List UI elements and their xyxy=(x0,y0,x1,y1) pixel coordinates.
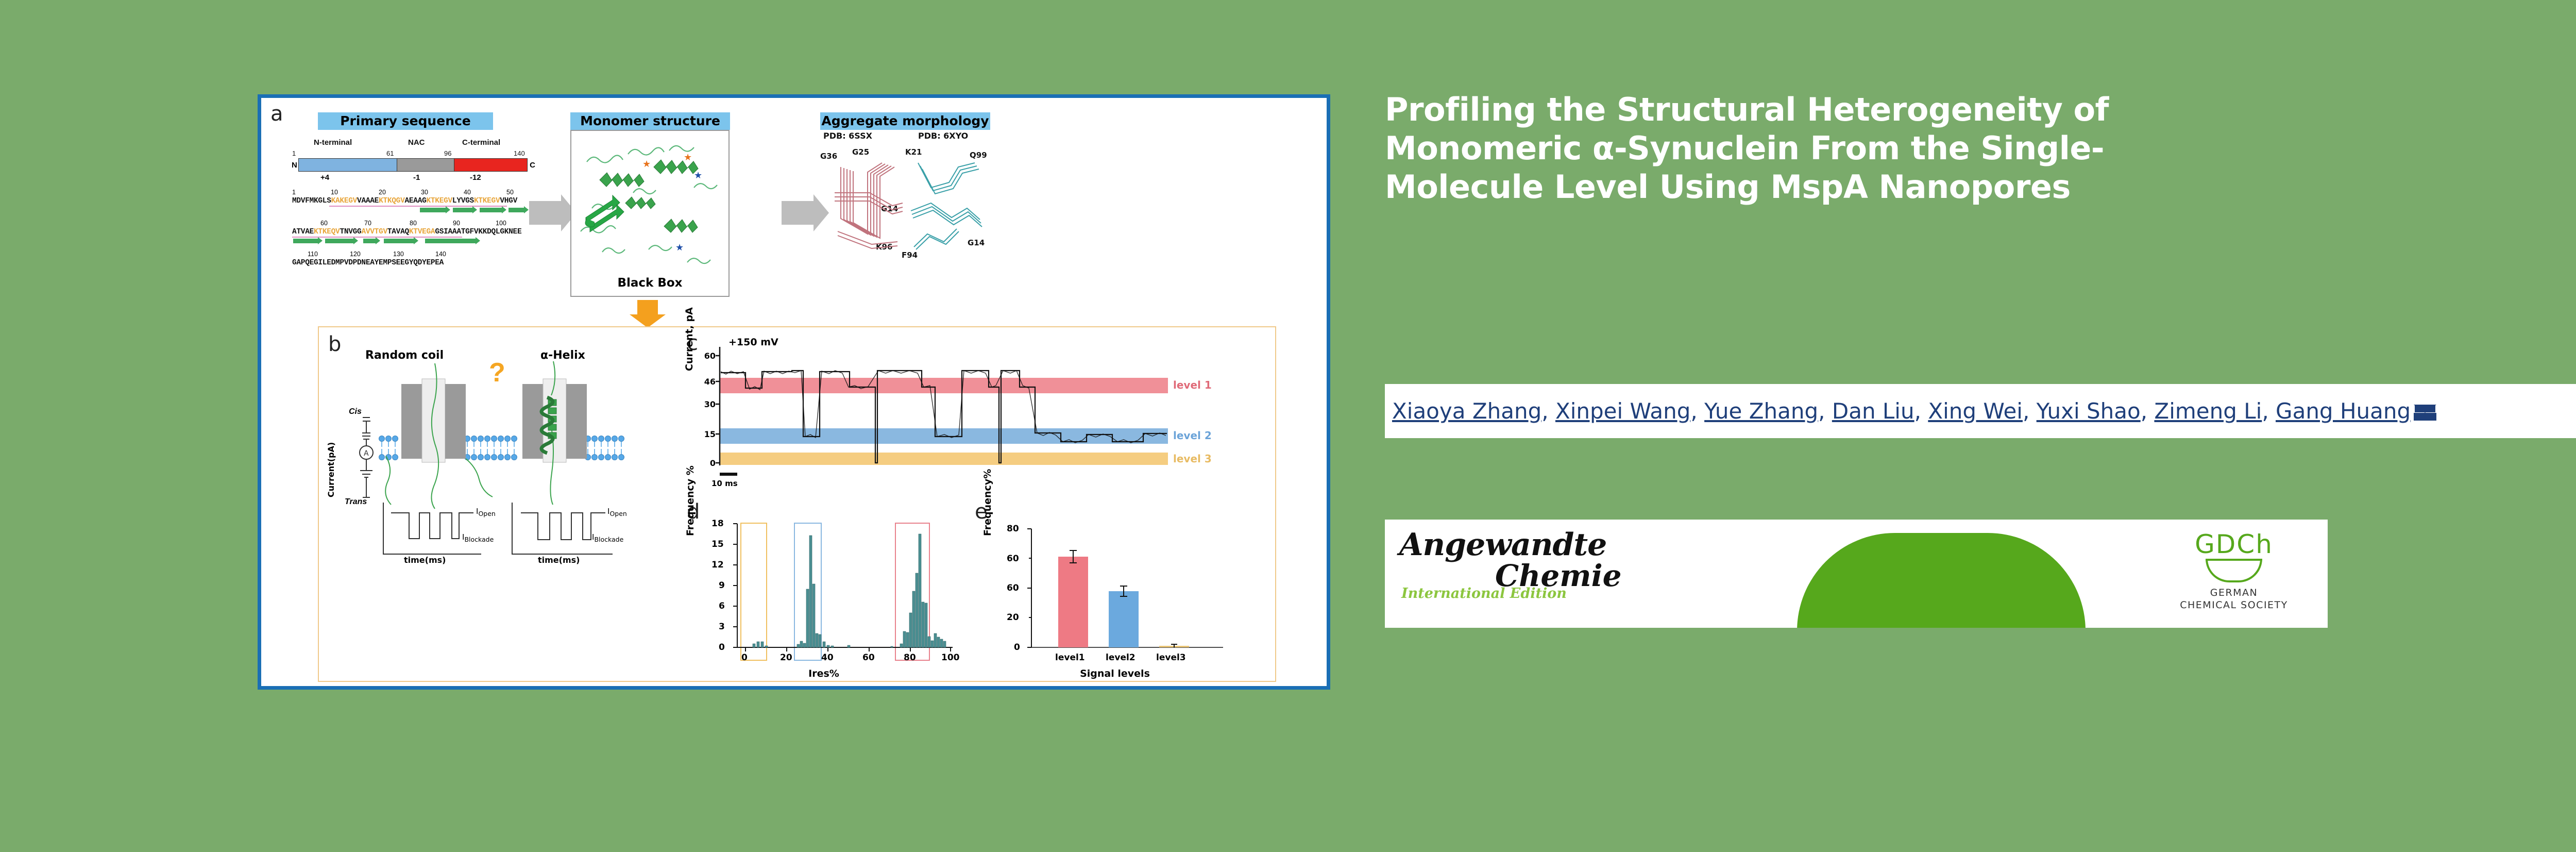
seqnum-50: 50 xyxy=(506,189,514,196)
sequence-motif: AVVTGV xyxy=(361,228,387,236)
panel-e-ytick-80: 80 xyxy=(1007,524,1019,534)
svg-text:★: ★ xyxy=(642,159,651,169)
domain-segment-nac xyxy=(397,159,454,171)
page-title: Profiling the Structural Heterogeneity o… xyxy=(1385,90,2576,206)
author-separator: , xyxy=(1818,398,1832,424)
arrow-right-icon-1 xyxy=(529,201,561,225)
journal-name-wrap: Angewandte Chemie International Edition xyxy=(1399,529,1622,591)
sequence-numbers-row3: 110 120 130 140 xyxy=(292,250,534,259)
domain-label-c-terminal: C-terminal xyxy=(462,138,500,147)
panel-d-ytick-12: 12 xyxy=(711,560,724,570)
seqnum-120: 120 xyxy=(350,250,361,258)
sequence-segment: TNVGG xyxy=(340,228,361,236)
author-link[interactable]: Xinpei Wang xyxy=(1555,398,1690,424)
panel-d-ytick-15: 15 xyxy=(711,539,724,549)
sequence-segment: LYVGS xyxy=(452,197,474,205)
graphical-abstract-figure: a Primary sequence Monomer structure Agg… xyxy=(258,94,1330,690)
sequence-segment: GSIAAATGFVKKDQLGKNEE xyxy=(435,228,521,236)
sequence-row-2: ATVAEKTKEQVTNVGGAVVTGVTAVAQKTVEGAGSIAAAT… xyxy=(292,228,534,236)
authors-list[interactable]: Xiaoya Zhang, Xinpei Wang, Yue Zhang, Da… xyxy=(1392,398,2436,424)
gdch-logo: GDCh GERMAN CHEMICAL SOCIETY xyxy=(2177,531,2291,611)
panel-e-ytick-20: 20 xyxy=(1007,612,1019,623)
svg-text:★: ★ xyxy=(675,242,684,253)
journal-dome-graphic xyxy=(1797,533,2086,628)
gdch-society-line2: CHEMICAL SOCIETY xyxy=(2177,599,2291,611)
sequence-motif: KTKEQV xyxy=(314,228,340,236)
panel-b-ylabel: Current(pA) xyxy=(326,442,336,497)
sequence-segment: VAAAE xyxy=(357,197,379,205)
panel-e-category-level1: level1 xyxy=(1055,653,1085,663)
journal-logo-banner: Angewandte Chemie International Edition … xyxy=(1385,520,2328,628)
panel-e-ytick-60: 60 xyxy=(1007,583,1019,593)
domain-num-96: 96 xyxy=(444,149,451,157)
panel-e-category-level2: level2 xyxy=(1106,653,1136,663)
panel-e-category-level3: level3 xyxy=(1156,653,1186,663)
sequence-motif: KAKEGV xyxy=(331,197,357,205)
charge-nac: -1 xyxy=(413,173,420,182)
authors-box: Xiaoya Zhang, Xinpei Wang, Yue Zhang, Da… xyxy=(1385,384,2576,438)
sequence-segment: MDVFMKGLS xyxy=(292,197,331,205)
section-title-primary-sequence: Primary sequence xyxy=(318,112,493,130)
panel-b-xlabel-right: time(ms) xyxy=(538,555,580,565)
page-title-line-1: Profiling the Structural Heterogeneity o… xyxy=(1385,90,2576,129)
panel-d-xtick-0: 0 xyxy=(741,653,748,663)
sequence-segment: AEAAG xyxy=(404,197,426,205)
author-separator: , xyxy=(2262,398,2276,424)
panel-d-ytick-6: 6 xyxy=(719,601,725,611)
charge-c-terminal: -12 xyxy=(470,173,481,182)
gdch-society-name: GERMAN CHEMICAL SOCIETY xyxy=(2177,587,2291,611)
panel-d-ytick-0: 0 xyxy=(719,642,725,653)
author-separator: , xyxy=(1541,398,1555,424)
scale-bar-label: 10 ms xyxy=(711,479,738,488)
seqnum-140: 140 xyxy=(435,250,446,258)
seqnum-1: 1 xyxy=(292,189,296,196)
seqnum-90: 90 xyxy=(453,220,460,227)
envelope-icon[interactable] xyxy=(2414,405,2436,421)
author-link[interactable]: Yuxi Shao xyxy=(2037,398,2141,424)
author-separator: , xyxy=(2023,398,2037,424)
panel-d-xtick-80: 80 xyxy=(904,653,916,663)
domain-num-61: 61 xyxy=(386,149,394,157)
seqnum-100: 100 xyxy=(496,220,506,227)
sequence-segment: VHGV xyxy=(500,197,517,205)
author-separator: , xyxy=(1914,398,1928,424)
panel-d-xtick-60: 60 xyxy=(862,653,875,663)
domain-num-1: 1 xyxy=(292,149,296,157)
charge-n-terminal: +4 xyxy=(320,173,329,182)
domain-segment-c-terminal xyxy=(454,159,527,171)
domain-labels: N-terminal NAC C-terminal xyxy=(292,138,534,149)
seqnum-20: 20 xyxy=(379,189,386,196)
author-link[interactable]: Zimeng Li xyxy=(2154,398,2262,424)
seqnum-30: 30 xyxy=(421,189,428,196)
journal-name-line1: Angewandte xyxy=(1399,529,1622,561)
panel-d: d Frequency % Ires% xyxy=(680,500,968,680)
sequence-motif: KTKEGV xyxy=(427,197,452,205)
arrow-down-icon xyxy=(637,300,658,314)
seqnum-40: 40 xyxy=(464,189,471,196)
panel-d-xtick-20: 20 xyxy=(780,653,792,663)
author-link[interactable]: Xing Wei xyxy=(1928,398,2023,424)
primary-sequence-block: N-terminal NAC C-terminal 1 61 96 140 N … xyxy=(292,138,534,267)
arrow-right-icon-2 xyxy=(782,201,814,225)
svg-text:★: ★ xyxy=(694,170,702,180)
domain-num-140: 140 xyxy=(514,149,525,157)
author-link[interactable]: Xiaoya Zhang xyxy=(1392,398,1541,424)
page-title-line-2: Monomeric α-Synuclein From the Single- xyxy=(1385,129,2576,168)
panel-b-xlabel-left: time(ms) xyxy=(404,555,446,565)
author-link[interactable]: Gang Huang xyxy=(2276,398,2411,424)
author-link[interactable]: Dan Liu xyxy=(1832,398,1914,424)
beta-arrows-row-1 xyxy=(292,208,534,214)
beta-arrows-row-2 xyxy=(292,239,534,245)
black-box-label: Black Box xyxy=(571,276,728,290)
hub-watermark: HUB xyxy=(2564,661,2576,816)
domain-boundary-numbers: 1 61 96 140 xyxy=(292,149,534,158)
seqnum-10: 10 xyxy=(331,189,338,196)
seqnum-110: 110 xyxy=(308,250,318,258)
terminus-n-label: N xyxy=(292,161,297,170)
author-link[interactable]: Yue Zhang xyxy=(1704,398,1818,424)
page-title-line-3: Molecule Level Using MspA Nanopores xyxy=(1385,168,2576,206)
panels-bcde-group: b Random coil α-Helix ? Cis Trans A xyxy=(318,326,1276,682)
sequence-motif: KTKEGV xyxy=(474,197,500,205)
seqnum-70: 70 xyxy=(364,220,371,227)
i-blockade-label-right: IBlockade xyxy=(592,532,623,543)
gdch-bowl-icon xyxy=(2206,559,2262,582)
author-separator: , xyxy=(2141,398,2155,424)
sequence-segment: TAVAQ xyxy=(387,228,409,236)
panel-d-ytick-3: 3 xyxy=(719,622,725,632)
journal-edition: International Edition xyxy=(1401,586,1567,602)
sequence-numbers-row2: 60 70 80 90 100 xyxy=(292,220,534,228)
i-blockade-label-left: IBlockade xyxy=(462,532,494,543)
domain-charges: +4 -1 -12 xyxy=(292,173,534,183)
domain-label-n-terminal: N-terminal xyxy=(314,138,352,147)
seqnum-60: 60 xyxy=(320,220,328,227)
i-open-label-left: IOpen xyxy=(476,507,496,517)
sequence-motif: KTVEGA xyxy=(409,228,435,236)
author-separator: , xyxy=(1690,398,1704,424)
sequence-segment: GAPQEGILEDMPVDPDNEAYEMPSEEGYQDYEPEA xyxy=(292,259,444,267)
current-trace-svg xyxy=(680,327,1195,482)
terminus-c-label: C xyxy=(530,161,535,170)
panel-c: c +150 mV Current, pA 60 46 30 15 0 leve… xyxy=(680,327,1275,497)
svg-text:★: ★ xyxy=(684,152,692,162)
gdch-society-line1: GERMAN xyxy=(2177,587,2291,599)
panel-a: a Primary sequence Monomer structure Agg… xyxy=(261,98,1327,312)
sequence-numbers-row1: 1 10 20 30 40 50 xyxy=(292,189,534,197)
section-title-aggregate-morphology: Aggregate morphology xyxy=(820,112,990,130)
panel-d-xtick-100: 100 xyxy=(941,653,960,663)
panel-d-ytick-18: 18 xyxy=(711,519,724,529)
sequence-motif: KTKQGV xyxy=(379,197,404,205)
section-title-monomer-structure: Monomer structure xyxy=(570,112,730,130)
domain-segment-n-terminal xyxy=(299,159,397,171)
domain-bar: N C xyxy=(298,158,528,172)
svg-text:A: A xyxy=(364,449,369,458)
panel-d-ytick-9: 9 xyxy=(719,580,725,591)
aggregate-morphology-box: PDB: 6SSX PDB: 6XYO G36 G25 G14 K96 K21 … xyxy=(820,131,990,286)
seqnum-130: 130 xyxy=(393,250,404,258)
monomer-structure-box: ★ ★ ★ ★ Black Box xyxy=(570,130,730,297)
sequence-row-3: GAPQEGILEDMPVDPDNEAYEMPSEEGYQDYEPEA xyxy=(292,259,534,267)
panel-d-xtick-40: 40 xyxy=(821,653,834,663)
panel-e: e Frequency% Signal levels xyxy=(971,500,1259,680)
sequence-segment: ATVAE xyxy=(292,228,314,236)
panel-b: b Random coil α-Helix ? Cis Trans A xyxy=(319,327,674,681)
i-open-label-right: IOpen xyxy=(607,507,627,517)
seqnum-80: 80 xyxy=(410,220,417,227)
sequence-row-1: MDVFMKGLSKAKEGVVAAAEKTKQGVAEAAGKTKEGVLYV… xyxy=(292,197,534,205)
panel-e-ytick-0: 0 xyxy=(1014,642,1020,653)
gdch-acronym: GDCh xyxy=(2177,531,2291,558)
panel-a-letter: a xyxy=(270,102,283,126)
domain-label-nac: NAC xyxy=(408,138,425,147)
scale-bar xyxy=(720,473,737,476)
panel-e-ytick-60b: 60 xyxy=(1007,554,1019,564)
sequence-underline-1 xyxy=(329,205,507,207)
